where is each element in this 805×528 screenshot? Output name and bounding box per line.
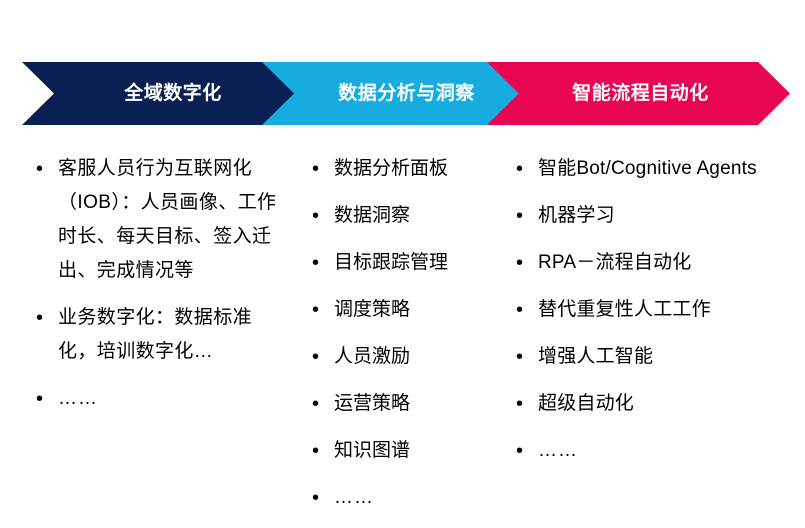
- bullet-dot-icon: •: [312, 152, 334, 186]
- process-chevron-band: 全域数字化 数据分析与洞察 智能流程自动化: [0, 62, 805, 125]
- chevron-stage-1[interactable]: 全域数字化: [22, 62, 300, 125]
- chevron-stage-2-label: 数据分析与洞察: [338, 84, 475, 103]
- list-item: • ……: [36, 382, 282, 416]
- list-item: • ……: [516, 434, 766, 468]
- bullet-dot-icon: •: [516, 152, 538, 186]
- content-columns: • 客服人员行为互联网化（IOB）：人员画像、工作时长、每天目标、签入迁出、完成…: [0, 152, 805, 512]
- list-item: • 调度策略: [312, 293, 492, 327]
- list-item-label: 运营策略: [334, 387, 492, 421]
- bullet-dot-icon: •: [312, 246, 334, 280]
- list-item-label: 人员激励: [334, 340, 492, 374]
- list-item: • ……: [312, 481, 492, 515]
- list-item: • 替代重复性人工工作: [516, 293, 766, 327]
- list-item-label: ……: [334, 481, 492, 515]
- bullet-dot-icon: •: [516, 387, 538, 421]
- list-item: • 运营策略: [312, 387, 492, 421]
- list-item-label: RPA－流程自动化: [538, 246, 766, 280]
- bullet-dot-icon: •: [36, 152, 58, 186]
- list-item: • 机器学习: [516, 199, 766, 233]
- list-item: • RPA－流程自动化: [516, 246, 766, 280]
- list-item: • 数据洞察: [312, 199, 492, 233]
- list-item-label: 业务数字化：数据标准化，培训数字化…: [58, 301, 282, 369]
- list-item: • 超级自动化: [516, 387, 766, 421]
- bullet-dot-icon: •: [516, 246, 538, 280]
- content-column-3: • 智能Bot/Cognitive Agents • 机器学习 • RPA－流程…: [516, 152, 766, 481]
- list-item-label: 替代重复性人工工作: [538, 293, 766, 327]
- list-item: • 业务数字化：数据标准化，培训数字化…: [36, 301, 282, 369]
- content-column-1: • 客服人员行为互联网化（IOB）：人员画像、工作时长、每天目标、签入迁出、完成…: [36, 152, 282, 429]
- bullet-dot-icon: •: [516, 434, 538, 468]
- list-item-label: 数据分析面板: [334, 152, 492, 186]
- bullet-dot-icon: •: [516, 199, 538, 233]
- list-item-label: 客服人员行为互联网化（IOB）：人员画像、工作时长、每天目标、签入迁出、完成情况…: [58, 152, 282, 288]
- chevron-stage-1-label: 全域数字化: [124, 84, 222, 103]
- bullet-dot-icon: •: [36, 382, 58, 416]
- slide-canvas: 全域数字化 数据分析与洞察 智能流程自动化 • 客服人员行为互联网化（IOB）：…: [0, 0, 805, 519]
- content-column-2: • 数据分析面板 • 数据洞察 • 目标跟踪管理 • 调度策略 • 人员激励 •…: [312, 152, 492, 528]
- list-item-label: ……: [58, 382, 282, 416]
- list-item: • 人员激励: [312, 340, 492, 374]
- bullet-dot-icon: •: [312, 387, 334, 421]
- chevron-stage-3[interactable]: 智能流程自动化: [487, 62, 790, 125]
- bullet-dot-icon: •: [312, 293, 334, 327]
- list-item-label: 机器学习: [538, 199, 766, 233]
- bullet-dot-icon: •: [36, 301, 58, 335]
- list-item: • 数据分析面板: [312, 152, 492, 186]
- bullet-dot-icon: •: [516, 293, 538, 327]
- bullet-dot-icon: •: [312, 481, 334, 515]
- list-item-label: 增强人工智能: [538, 340, 766, 374]
- list-item: • 知识图谱: [312, 434, 492, 468]
- list-item-label: 数据洞察: [334, 199, 492, 233]
- list-item-label: 调度策略: [334, 293, 492, 327]
- bullet-dot-icon: •: [312, 340, 334, 374]
- list-item: • 目标跟踪管理: [312, 246, 492, 280]
- bullet-dot-icon: •: [312, 434, 334, 468]
- list-item-label: ……: [538, 434, 766, 468]
- list-item: • 增强人工智能: [516, 340, 766, 374]
- list-item-label: 智能Bot/Cognitive Agents: [538, 152, 766, 186]
- list-item-label: 知识图谱: [334, 434, 492, 468]
- list-item: • 智能Bot/Cognitive Agents: [516, 152, 766, 186]
- bullet-dot-icon: •: [516, 340, 538, 374]
- bullet-dot-icon: •: [312, 199, 334, 233]
- chevron-stage-3-label: 智能流程自动化: [572, 84, 709, 103]
- list-item-label: 超级自动化: [538, 387, 766, 421]
- list-item-label: 目标跟踪管理: [334, 246, 492, 280]
- list-item: • 客服人员行为互联网化（IOB）：人员画像、工作时长、每天目标、签入迁出、完成…: [36, 152, 282, 288]
- chevron-stage-2[interactable]: 数据分析与洞察: [262, 62, 525, 125]
